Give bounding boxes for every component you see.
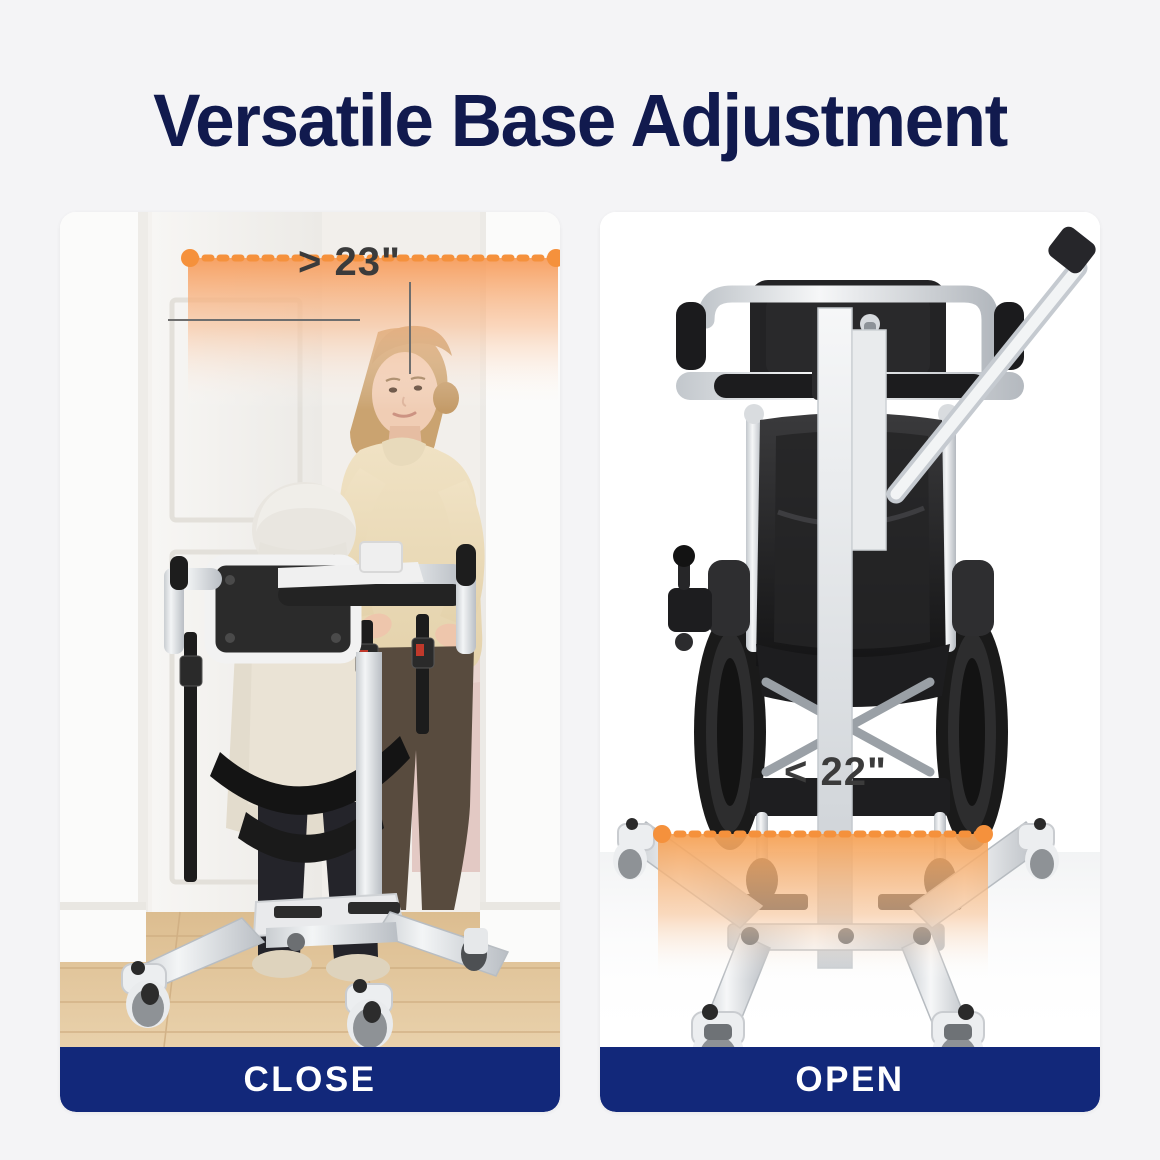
panel-row: > 23" CLOSE (60, 212, 1100, 1112)
panel-banner-open: OPEN (600, 1047, 1100, 1112)
page-title: Versatile Base Adjustment (23, 84, 1137, 158)
panel-banner-close: CLOSE (60, 1047, 560, 1112)
panel-close[interactable]: > 23" CLOSE (60, 212, 560, 1112)
photo-close: > 23" (60, 212, 560, 1047)
panel-open[interactable]: < 22" OPEN (600, 212, 1100, 1112)
infographic-page: Versatile Base Adjustment (0, 0, 1160, 1160)
banner-label-open: OPEN (795, 1060, 904, 1100)
banner-label-close: CLOSE (243, 1060, 376, 1100)
photo-open: < 22" (600, 212, 1100, 1047)
